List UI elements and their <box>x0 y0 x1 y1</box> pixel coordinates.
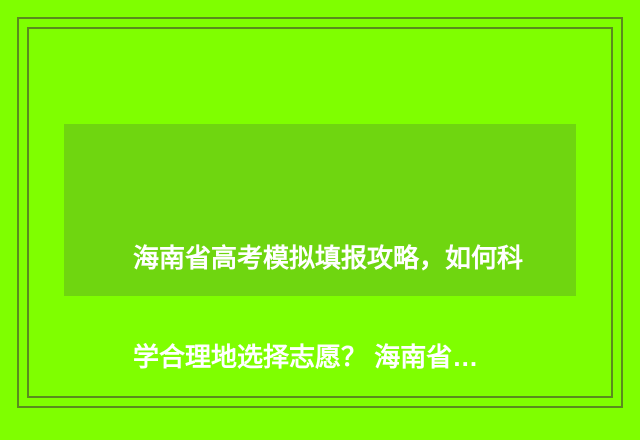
headline-text: 海南省高考模拟填报攻略，如何科 学合理地选择志愿？ 海南省… <box>133 176 533 440</box>
headline-line-2: 学合理地选择志愿？ 海南省… <box>133 341 533 374</box>
headline-line-1: 海南省高考模拟填报攻略，如何科 <box>133 242 533 275</box>
banner-image: 海南省高考模拟填报攻略，如何科 学合理地选择志愿？ 海南省… <box>0 0 640 425</box>
